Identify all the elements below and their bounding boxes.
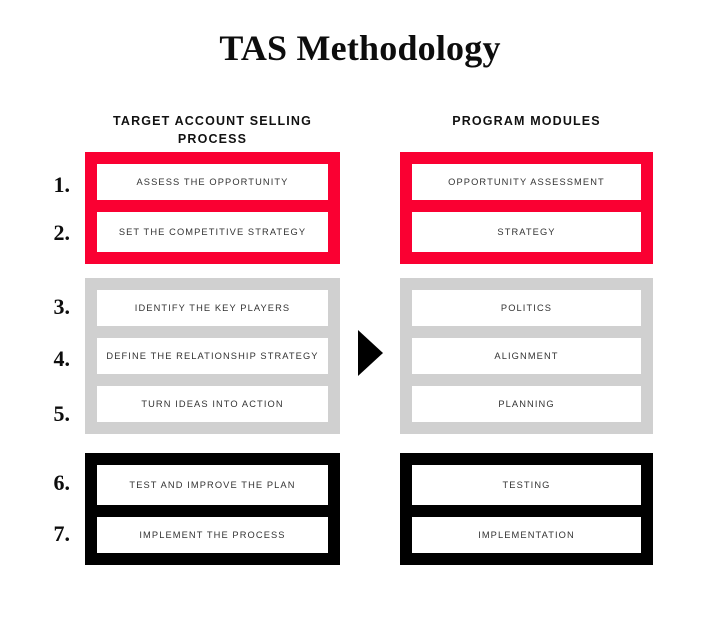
step-number-2: 2. xyxy=(28,220,70,246)
triangle-right-icon xyxy=(358,330,383,376)
process-cell[interactable]: DEFINE THE RELATIONSHIP STRATEGY xyxy=(97,338,328,374)
process-cell[interactable]: SET THE COMPETITIVE STRATEGY xyxy=(97,212,328,252)
module-cell[interactable]: ALIGNMENT xyxy=(412,338,641,374)
step-number-3: 3. xyxy=(28,294,70,320)
step-number-5: 5. xyxy=(28,401,70,427)
module-section-gray: POLITICS ALIGNMENT PLANNING xyxy=(400,278,653,434)
module-section-red: OPPORTUNITY ASSESSMENT STRATEGY xyxy=(400,152,653,264)
process-cell[interactable]: TEST AND IMPROVE THE PLAN xyxy=(97,465,328,505)
process-section-black: TEST AND IMPROVE THE PLAN IMPLEMENT THE … xyxy=(85,453,340,565)
module-cell[interactable]: STRATEGY xyxy=(412,212,641,252)
column-header-modules: PROGRAM MODULES xyxy=(400,112,653,130)
module-cell[interactable]: PLANNING xyxy=(412,386,641,422)
process-cell[interactable]: IMPLEMENT THE PROCESS xyxy=(97,517,328,553)
step-number-4: 4. xyxy=(28,346,70,372)
module-cell[interactable]: POLITICS xyxy=(412,290,641,326)
module-section-black: TESTING IMPLEMENTATION xyxy=(400,453,653,565)
step-number-6: 6. xyxy=(28,470,70,496)
process-section-red: ASSESS THE OPPORTUNITY SET THE COMPETITI… xyxy=(85,152,340,264)
module-cell[interactable]: TESTING xyxy=(412,465,641,505)
process-cell[interactable]: IDENTIFY THE KEY PLAYERS xyxy=(97,290,328,326)
module-cell[interactable]: IMPLEMENTATION xyxy=(412,517,641,553)
process-cell[interactable]: TURN IDEAS INTO ACTION xyxy=(97,386,328,422)
step-number-7: 7. xyxy=(28,521,70,547)
module-cell[interactable]: OPPORTUNITY ASSESSMENT xyxy=(412,164,641,200)
page-title: TAS Methodology xyxy=(0,27,720,69)
step-number-1: 1. xyxy=(28,172,70,198)
process-cell[interactable]: ASSESS THE OPPORTUNITY xyxy=(97,164,328,200)
process-section-gray: IDENTIFY THE KEY PLAYERS DEFINE THE RELA… xyxy=(85,278,340,434)
column-header-process: TARGET ACCOUNT SELLING PROCESS xyxy=(85,112,340,148)
